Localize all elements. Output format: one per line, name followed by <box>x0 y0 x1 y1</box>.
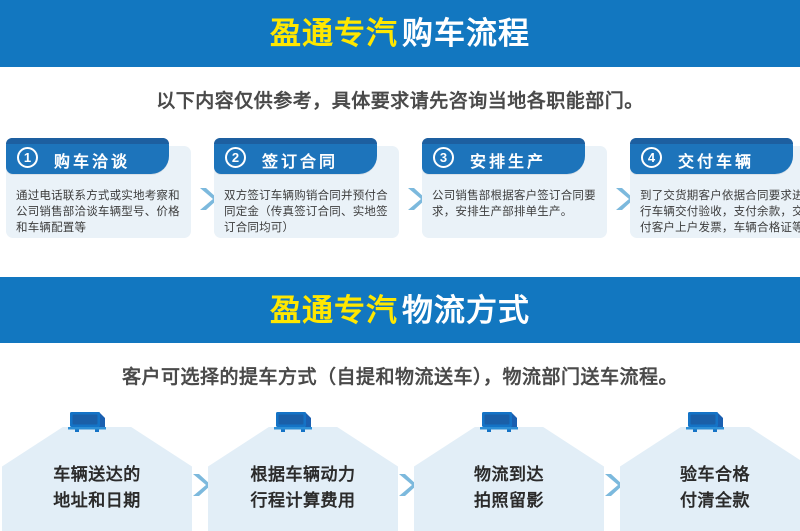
truck-icon-3 <box>477 410 523 434</box>
step-card-2-header: 2 签订合同 <box>214 138 377 174</box>
logistics-card-1[interactable]: 车辆送达的 地址和日期 <box>2 410 192 531</box>
step-title-2: 签订合同 <box>262 148 338 172</box>
step-number-2: 2 <box>225 147 246 168</box>
logistics-banner: 盈通专汽物流方式 <box>0 277 800 343</box>
svg-text:2: 2 <box>232 150 239 165</box>
logistics-card-2-text: 根据车辆动力 行程计算费用 <box>208 462 398 514</box>
step-card-3-header: 3 安排生产 <box>422 138 585 174</box>
logistics-card-2[interactable]: 根据车辆动力 行程计算费用 <box>208 410 398 531</box>
step-number-1: 1 <box>17 147 38 168</box>
logistics-banner-title: 盈通专汽物流方式 <box>270 295 530 326</box>
logistics-card-1-line1: 车辆送达的 <box>2 462 192 488</box>
logistics-card-3-line1: 物流到达 <box>414 462 604 488</box>
step-title-1: 购车洽谈 <box>54 148 130 172</box>
step-card-2-description: 双方签订车辆购销合同并预付合同定金（传真签订合同、实地签订合同均可） <box>224 188 390 236</box>
logistics-card-1-text: 车辆送达的 地址和日期 <box>2 462 192 514</box>
purchase-flow-title: 购车流程 <box>402 16 530 51</box>
truck-icon-2 <box>271 410 317 434</box>
step-number-3: 3 <box>433 147 454 168</box>
step-card-1-header: 1 购车洽谈 <box>6 138 169 174</box>
step-title-3: 安排生产 <box>470 148 546 172</box>
logistics-cards-row: 车辆送达的 地址和日期 根据车辆动力 行程计算费用 <box>0 410 800 531</box>
logistics-card-2-line1: 根据车辆动力 <box>208 462 398 488</box>
step-card-1-description: 通过电话联系方式或实地考察和公司销售部洽谈车辆型号、价格和车辆配置等 <box>16 188 182 236</box>
logistics-caption: 客户可选择的提车方式（自提和物流送车），物流部门送车流程。 <box>0 362 800 389</box>
logistics-title: 物流方式 <box>402 293 530 328</box>
step-card-1[interactable]: 通过电话联系方式或实地考察和公司销售部洽谈车辆型号、价格和车辆配置等 1 购车洽… <box>6 138 191 238</box>
logistics-card-3-line2: 拍照留影 <box>414 488 604 514</box>
svg-text:4: 4 <box>648 150 656 165</box>
logistics-card-3[interactable]: 物流到达 拍照留影 <box>414 410 604 531</box>
truck-icon-4 <box>683 410 729 434</box>
logistics-card-4[interactable]: 验车合格 付清全款 <box>620 410 800 531</box>
step-card-4-header: 4 交付车辆 <box>630 138 793 174</box>
svg-text:1: 1 <box>24 150 31 165</box>
step-card-3[interactable]: 公司销售部根据客户签订合同要求，安排生产部排单生产。 3 安排生产 <box>422 138 607 238</box>
purchase-flow-banner-title: 盈通专汽购车流程 <box>270 18 530 49</box>
svg-text:3: 3 <box>440 150 447 165</box>
logistics-card-2-line2: 行程计算费用 <box>208 488 398 514</box>
step-card-4[interactable]: 到了交货期客户依据合同要求进行车辆交付验收，支付余款，交付客户上户发票，车辆合格… <box>630 138 800 238</box>
step-card-4-description: 到了交货期客户依据合同要求进行车辆交付验收，支付余款，交付客户上户发票，车辆合格… <box>640 188 800 236</box>
logistics-card-3-text: 物流到达 拍照留影 <box>414 462 604 514</box>
step-card-2[interactable]: 双方签订车辆购销合同并预付合同定金（传真签订合同、实地签订合同均可） 2 签订合… <box>214 138 399 238</box>
logistics-card-4-line1: 验车合格 <box>620 462 800 488</box>
step-number-4: 4 <box>641 147 662 168</box>
logistics-card-4-text: 验车合格 付清全款 <box>620 462 800 514</box>
purchase-steps-row: 通过电话联系方式或实地考察和公司销售部洽谈车辆型号、价格和车辆配置等 1 购车洽… <box>6 138 794 240</box>
step-title-4: 交付车辆 <box>678 148 754 172</box>
step-card-3-description: 公司销售部根据客户签订合同要求，安排生产部排单生产。 <box>432 188 598 220</box>
logistics-card-4-line2: 付清全款 <box>620 488 800 514</box>
purchase-flow-banner: 盈通专汽购车流程 <box>0 0 800 67</box>
purchase-flow-caption: 以下内容仅供参考，具体要求请先咨询当地各职能部门。 <box>0 86 800 113</box>
logistics-card-1-line2: 地址和日期 <box>2 488 192 514</box>
truck-icon-1 <box>65 410 111 434</box>
brand-name: 盈通专汽 <box>270 16 398 51</box>
brand-name-2: 盈通专汽 <box>270 293 398 328</box>
